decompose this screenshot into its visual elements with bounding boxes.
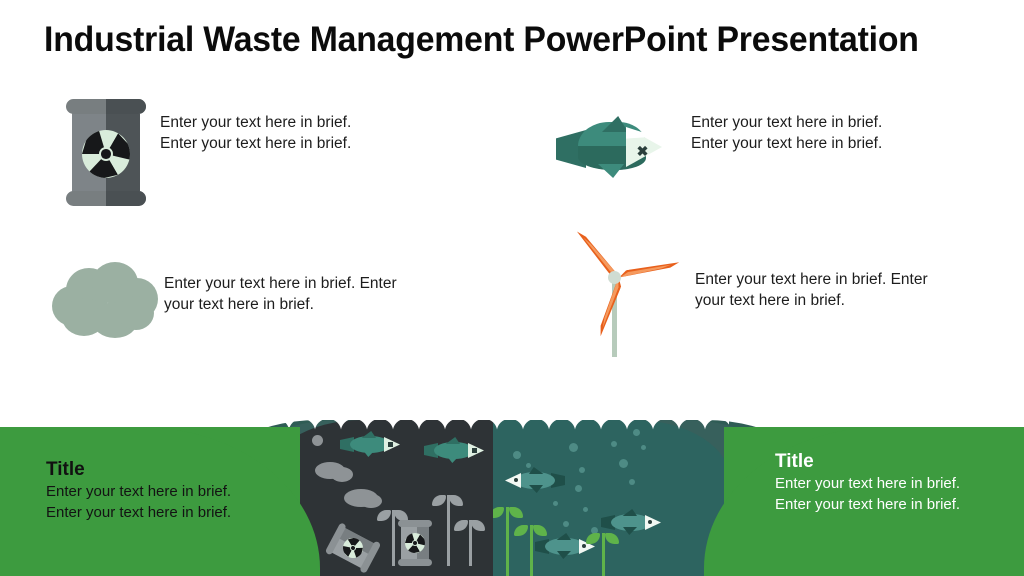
waste-barrel-upright: [398, 520, 432, 566]
feature-line-1: Enter your text here in brief.: [691, 112, 991, 133]
bubble: [579, 467, 585, 473]
smoke-cloud-icon: [52, 262, 160, 340]
fish-ventral-fin: [598, 164, 624, 178]
fish-x-eye-icon: ✖: [636, 145, 649, 158]
radioactive-symbol-icon: [405, 533, 425, 553]
feature-line-2: your text here in brief.: [164, 294, 439, 315]
wind-turbine-icon: [566, 245, 670, 357]
left-panel-line-2: Enter your text here in brief.: [46, 502, 346, 523]
water-plant: [521, 525, 541, 576]
waste-barrel-tilted: [325, 522, 382, 574]
bubble: [619, 459, 628, 468]
feature-text-smoke-cloud: Enter your text here in brief. Enter you…: [164, 273, 439, 315]
bubble: [526, 463, 531, 468]
right-panel-title: Title: [775, 451, 814, 473]
radioactive-symbol-icon: [82, 130, 130, 178]
radioactive-barrel-icon: [66, 99, 146, 206]
water-plant: [497, 507, 517, 576]
left-panel-body: Enter your text here in brief. Enter you…: [46, 481, 346, 523]
feature-text-wind-turbine: Enter your text here in brief. Enter you…: [695, 269, 970, 311]
bubble: [513, 451, 521, 459]
bubble: [569, 443, 578, 452]
live-fish: [503, 469, 565, 495]
right-panel-line-2: Enter your text here in brief.: [775, 494, 1024, 515]
left-panel-title: Title: [46, 459, 85, 481]
turbine-hub: [608, 271, 621, 284]
feature-text-dead-fish: Enter your text here in brief. Enter you…: [691, 112, 991, 154]
barrel-cap-bottom: [66, 191, 146, 206]
barrel-cap-top: [66, 99, 146, 114]
bubble: [611, 441, 617, 447]
water-surface-waves: [263, 416, 729, 432]
feature-line-1: Enter your text here in brief. Enter: [695, 269, 970, 290]
clean-water-contents: [493, 415, 731, 576]
pollution-blob: [312, 435, 323, 446]
dead-fish-in-water: [424, 439, 486, 465]
turbine-blade: [618, 258, 681, 282]
feature-line-2: Enter your text here in brief.: [691, 133, 991, 154]
slide: Industrial Waste Management PowerPoint P…: [0, 0, 1024, 576]
right-panel-body: Enter your text here in brief. Enter you…: [775, 473, 1024, 515]
page-title: Industrial Waste Management PowerPoint P…: [44, 20, 970, 60]
bubble: [583, 507, 588, 512]
dead-fish-icon: ✖: [556, 118, 664, 180]
left-panel-line-1: Enter your text here in brief.: [46, 481, 346, 502]
bubble: [553, 501, 558, 506]
pollution-blob: [331, 467, 353, 482]
bubble: [575, 485, 582, 492]
feature-line-1: Enter your text here in brief.: [160, 112, 460, 133]
feature-line-2: Enter your text here in brief.: [160, 133, 460, 154]
bubble: [563, 521, 569, 527]
dead-sprout: [460, 520, 480, 566]
feature-line-2: your text here in brief.: [695, 290, 970, 311]
feature-line-1: Enter your text here in brief. Enter: [164, 273, 439, 294]
bubble: [641, 445, 646, 450]
bubble: [629, 479, 635, 485]
water-plant: [593, 533, 613, 576]
pollution-blob: [360, 494, 382, 508]
feature-text-radioactive-barrel: Enter your text here in brief. Enter you…: [160, 112, 460, 154]
right-panel-line-1: Enter your text here in brief.: [775, 473, 1024, 494]
turbine-blade: [595, 275, 624, 337]
dead-fish-in-water: [340, 433, 402, 459]
